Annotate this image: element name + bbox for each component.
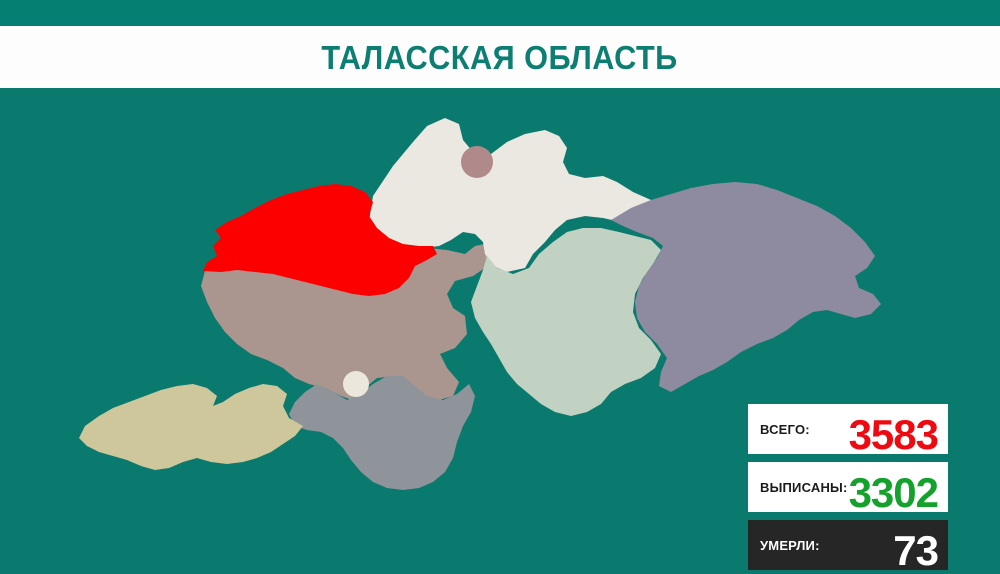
- stat-label-died: УМЕРЛИ:: [760, 538, 820, 553]
- infographic-root: ТАЛАССКАЯ ОБЛАСТЬ ВСЕГО:: [0, 0, 1000, 550]
- stat-value-discharged: 3302: [849, 472, 938, 514]
- stat-value-total: 3583: [849, 414, 938, 456]
- city-marker-osh[interactable]: [343, 371, 369, 397]
- map-stage: ВСЕГО: 3583 ВЫПИСАНЫ: 3302 УМЕРЛИ: 73: [0, 88, 1000, 550]
- stat-row-died: УМЕРЛИ: 73: [748, 520, 948, 570]
- stat-row-total: ВСЕГО: 3583: [748, 404, 948, 454]
- title-band: ТАЛАССКАЯ ОБЛАСТЬ: [0, 26, 1000, 88]
- map-region-batken[interactable]: [79, 384, 303, 470]
- top-accent-bar: [0, 0, 1000, 26]
- page-title: ТАЛАССКАЯ ОБЛАСТЬ: [322, 41, 678, 74]
- stats-panel: ВСЕГО: 3583 ВЫПИСАНЫ: 3302 УМЕРЛИ: 73: [748, 404, 948, 570]
- stat-label-discharged: ВЫПИСАНЫ:: [760, 480, 848, 495]
- stat-value-died: 73: [893, 530, 938, 572]
- stat-label-total: ВСЕГО:: [760, 422, 810, 437]
- city-marker-bishkek[interactable]: [461, 146, 493, 178]
- stat-row-discharged: ВЫПИСАНЫ: 3302: [748, 462, 948, 512]
